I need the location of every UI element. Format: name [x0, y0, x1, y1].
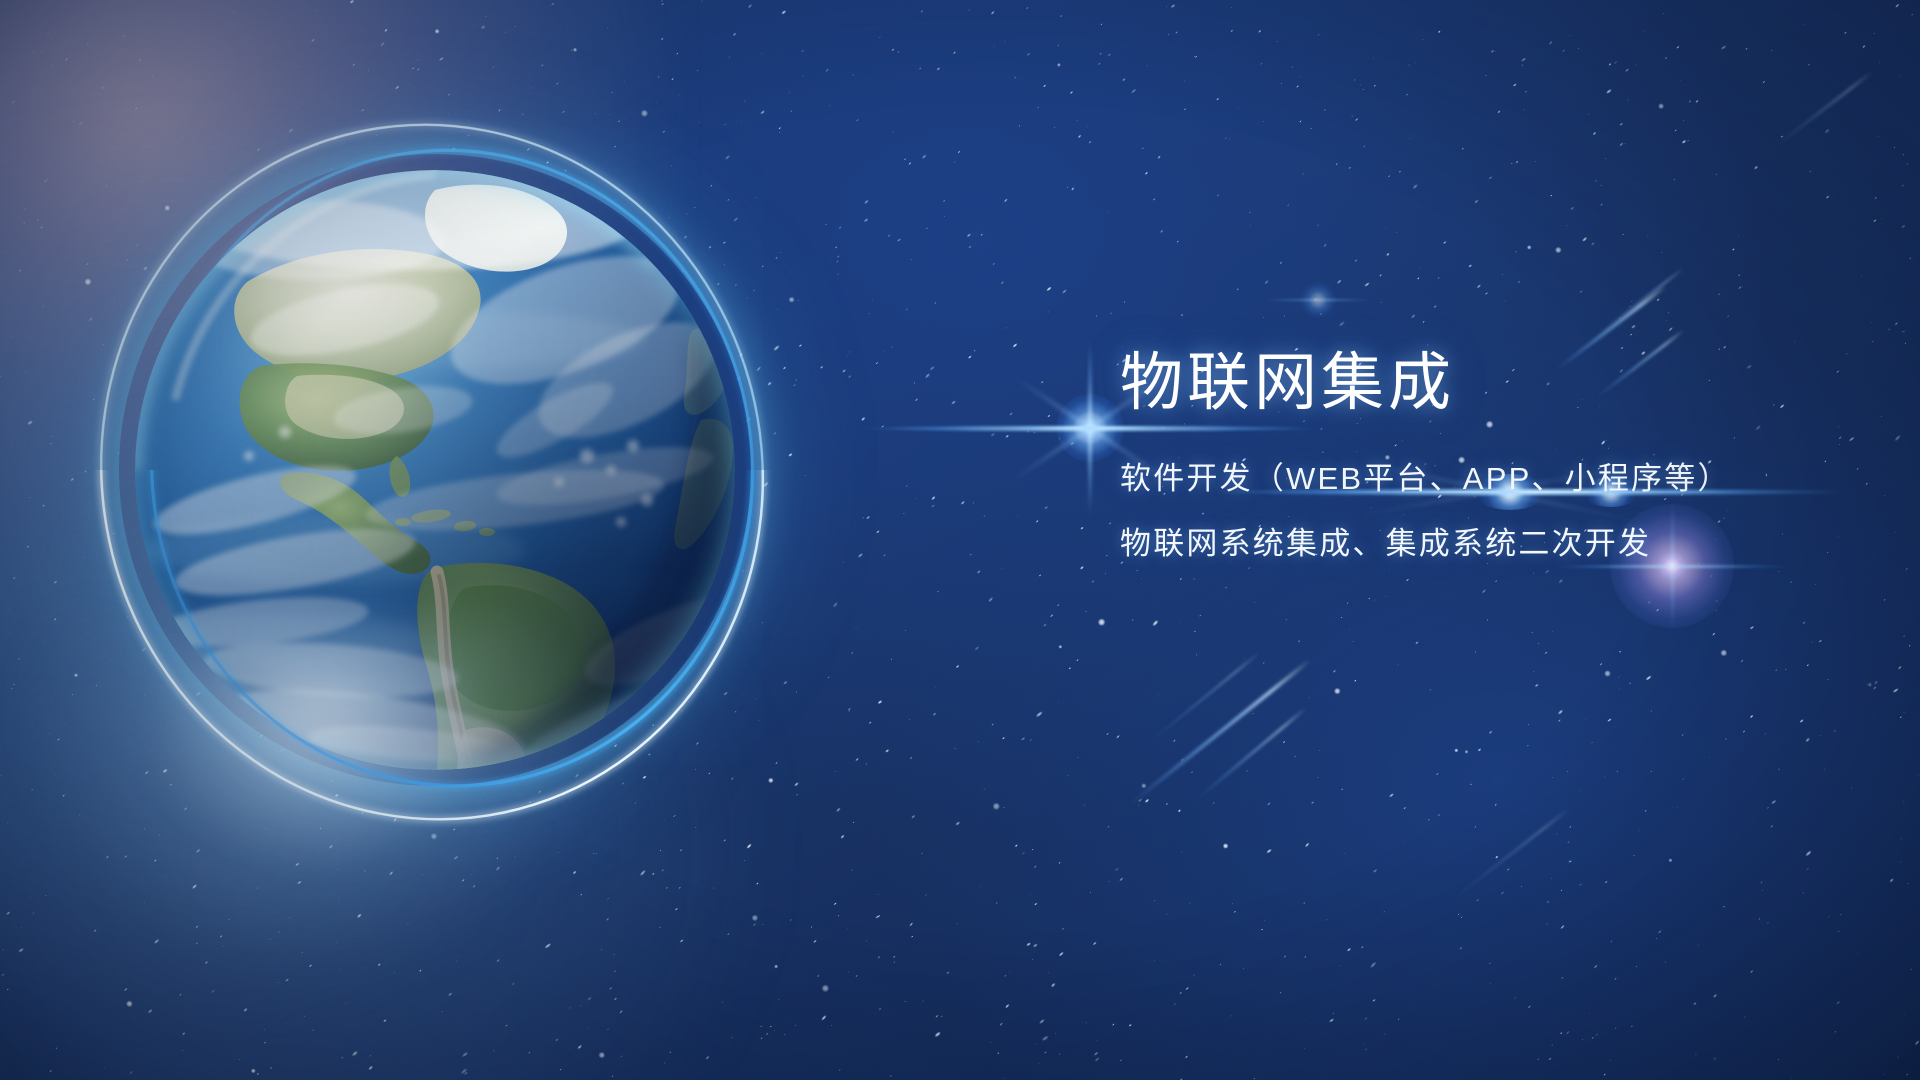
- subtitle-line-2: 物联网系统集成、集成系统二次开发: [1120, 528, 1840, 559]
- subtitle-line-1: 软件开发（WEB平台、APP、小程序等）: [1120, 463, 1840, 494]
- globe-bottom-mist-core: [160, 660, 490, 870]
- banner-stage: 物联网集成 软件开发（WEB平台、APP、小程序等） 物联网系统集成、集成系统二…: [0, 0, 1920, 1080]
- subtitle-list: 软件开发（WEB平台、APP、小程序等） 物联网系统集成、集成系统二次开发: [1120, 463, 1840, 559]
- page-title: 物联网集成: [1120, 352, 1840, 415]
- banner-text-block: 物联网集成 软件开发（WEB平台、APP、小程序等） 物联网系统集成、集成系统二…: [1120, 352, 1840, 559]
